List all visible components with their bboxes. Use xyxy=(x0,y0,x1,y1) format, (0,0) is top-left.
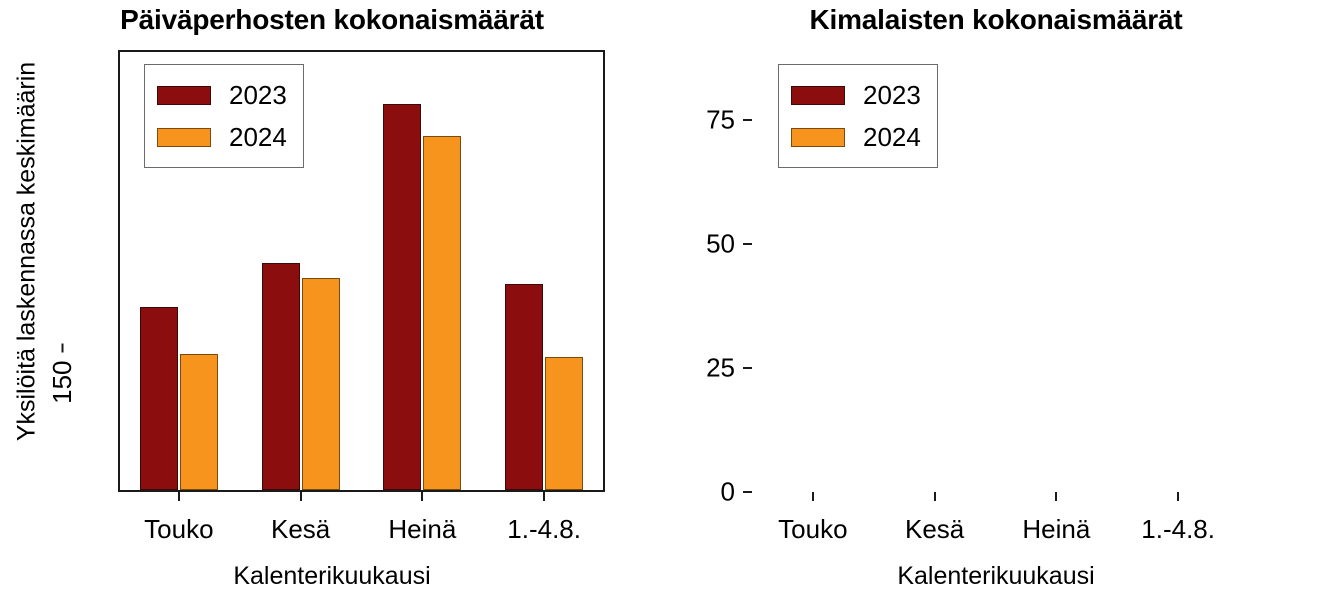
x-tick-label-Kes: Kesä xyxy=(271,514,330,545)
legend-swatch-2024-icon xyxy=(157,128,211,147)
legend-label-2023: 2023 xyxy=(863,80,921,111)
y-tick-mark xyxy=(743,367,752,369)
page-title-left: Päiväperhosten kokonaismäärät xyxy=(0,4,664,36)
legend-swatch-2023-icon xyxy=(157,86,211,105)
legend-left: 20232024 xyxy=(144,64,304,168)
legend-entry-2023: 2023 xyxy=(157,74,287,116)
page-title-right: Kimalaisten kokonaismäärät xyxy=(664,4,1328,36)
legend-right: 20232024 xyxy=(778,64,938,168)
y-tick-mark xyxy=(743,243,752,245)
y-tick-label: 150 xyxy=(47,361,78,449)
bar-2024-Touko xyxy=(180,354,218,490)
x-tick-label-Touko: Touko xyxy=(778,514,847,545)
x-tick-label-Touko: Touko xyxy=(144,514,213,545)
x-tick-label-Hein: Heinä xyxy=(1022,514,1090,545)
y-tick-mark xyxy=(743,491,752,493)
legend-label-2024: 2024 xyxy=(229,122,287,153)
bar-2023-148 xyxy=(505,284,543,490)
x-tick-mark xyxy=(1177,492,1179,501)
y-tick-mark xyxy=(743,119,752,121)
bar-2023-Hein xyxy=(383,104,421,490)
legend-entry-2024: 2024 xyxy=(157,116,287,158)
y-axis-label-left: Yksilöitä laskennassa keskimäärin0255075… xyxy=(13,42,42,462)
y-tick-label: 0 xyxy=(647,477,735,508)
panel-paivaperhoset: Päiväperhosten kokonaismäärät Yksilöitä … xyxy=(0,0,664,612)
legend-swatch-2023-icon xyxy=(791,86,845,105)
bar-2023-Kes xyxy=(262,263,300,490)
legend-swatch-2024-icon xyxy=(791,128,845,147)
y-tick-label: 25 xyxy=(647,352,735,383)
x-tick-mark xyxy=(934,492,936,501)
bar-2024-148 xyxy=(545,357,583,490)
panel-kimalaiset: Kimalaisten kokonaismäärät 0255075 Touko… xyxy=(664,0,1328,612)
x-tick-mark xyxy=(812,492,814,501)
figure-two-panel-bar-charts: Päiväperhosten kokonaismäärät Yksilöitä … xyxy=(0,0,1329,612)
bar-2024-Hein xyxy=(423,136,461,490)
x-tick-mark xyxy=(543,492,545,501)
legend-entry-2023: 2023 xyxy=(791,74,921,116)
x-axis-label-right: Kalenterikuukausi xyxy=(664,562,1328,591)
y-tick-label: 75 xyxy=(647,104,735,135)
x-tick-label-Kes: Kesä xyxy=(905,514,964,545)
legend-entry-2024: 2024 xyxy=(791,116,921,158)
y-tick-mark xyxy=(62,344,64,353)
x-tick-mark xyxy=(178,492,180,501)
x-axis-label-left: Kalenterikuukausi xyxy=(0,562,664,591)
x-tick-label-148: 1.-4.8. xyxy=(1141,514,1215,545)
y-tick-label: 50 xyxy=(647,228,735,259)
legend-label-2024: 2024 xyxy=(863,122,921,153)
x-tick-mark xyxy=(421,492,423,501)
x-tick-label-Hein: Heinä xyxy=(388,514,456,545)
bar-2023-Touko xyxy=(140,307,178,490)
bar-2024-Kes xyxy=(302,278,340,490)
legend-label-2023: 2023 xyxy=(229,80,287,111)
x-tick-mark xyxy=(1055,492,1057,501)
x-tick-label-148: 1.-4.8. xyxy=(507,514,581,545)
x-tick-mark xyxy=(300,492,302,501)
